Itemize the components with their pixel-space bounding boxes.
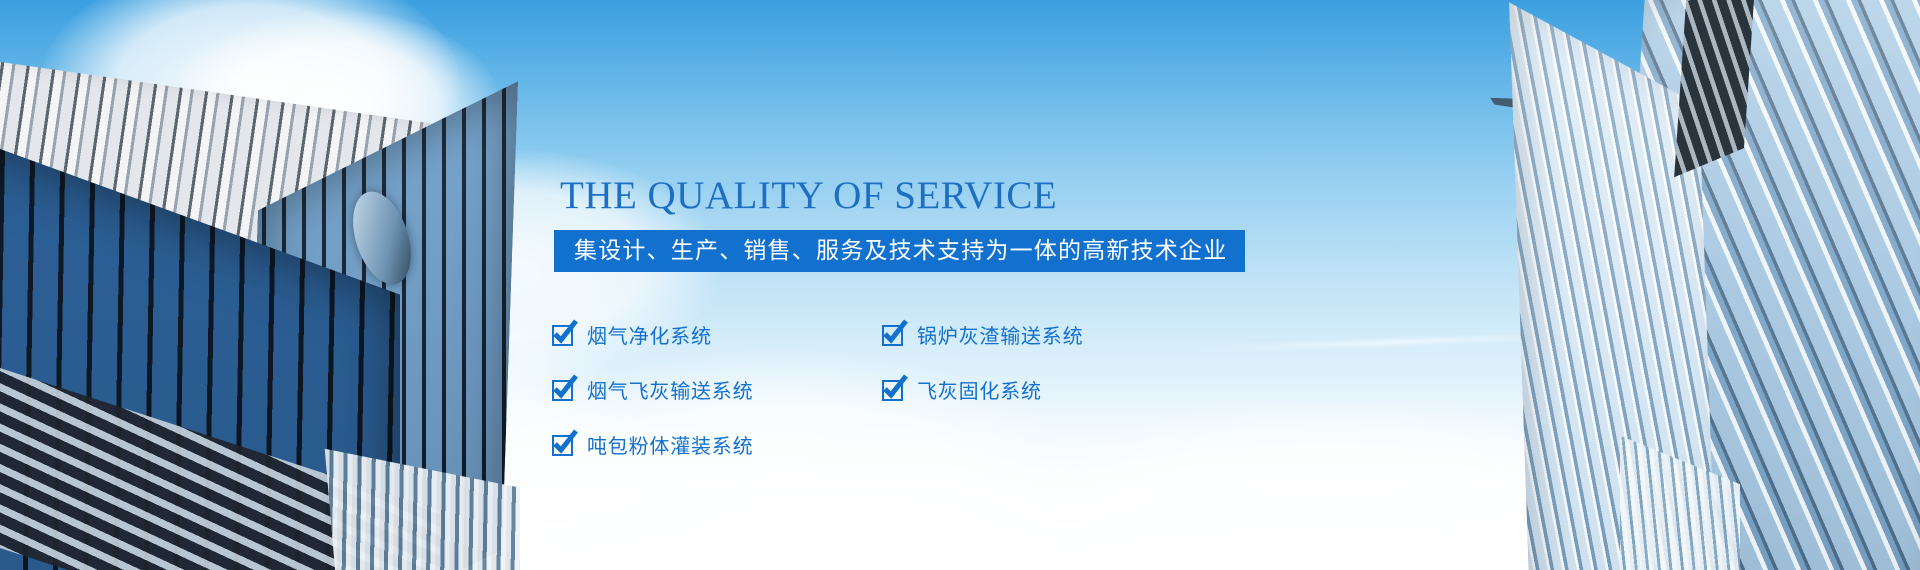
checkbox-checked-icon	[552, 380, 573, 401]
feature-item-label: 烟气飞灰输送系统	[587, 381, 753, 401]
hero-banner: THE QUALITY OF SERVICE 集设计、生产、销售、服务及技术支持…	[0, 0, 1920, 570]
banner-subtitle-bar: 集设计、生产、销售、服务及技术支持为一体的高新技术企业	[554, 230, 1245, 272]
banner-headline-english: THE QUALITY OF SERVICE	[560, 176, 1057, 215]
checkbox-checked-icon	[882, 380, 903, 401]
feature-item-1[interactable]: 烟气净化系统	[552, 325, 882, 346]
feature-item-3[interactable]: 烟气飞灰输送系统	[552, 380, 882, 401]
feature-list: 烟气净化系统 锅炉灰渣输送系统 烟气飞灰输送系统 飞灰固化系统	[552, 308, 1272, 473]
checkbox-checked-icon	[552, 325, 573, 346]
left-building-image	[0, 0, 520, 570]
checkbox-checked-icon	[552, 435, 573, 456]
banner-content: THE QUALITY OF SERVICE 集设计、生产、销售、服务及技术支持…	[560, 0, 1460, 570]
banner-subtitle-text: 集设计、生产、销售、服务及技术支持为一体的高新技术企业	[574, 240, 1227, 263]
feature-item-label: 飞灰固化系统	[917, 381, 1042, 401]
feature-item-label: 锅炉灰渣输送系统	[917, 326, 1083, 346]
feature-item-2[interactable]: 锅炉灰渣输送系统	[882, 325, 1212, 346]
right-building-image	[1500, 0, 1920, 570]
feature-item-5[interactable]: 吨包粉体灌装系统	[552, 435, 882, 456]
feature-item-label: 烟气净化系统	[587, 326, 712, 346]
feature-item-label: 吨包粉体灌装系统	[587, 436, 753, 456]
feature-item-4[interactable]: 飞灰固化系统	[882, 380, 1212, 401]
checkbox-checked-icon	[882, 325, 903, 346]
